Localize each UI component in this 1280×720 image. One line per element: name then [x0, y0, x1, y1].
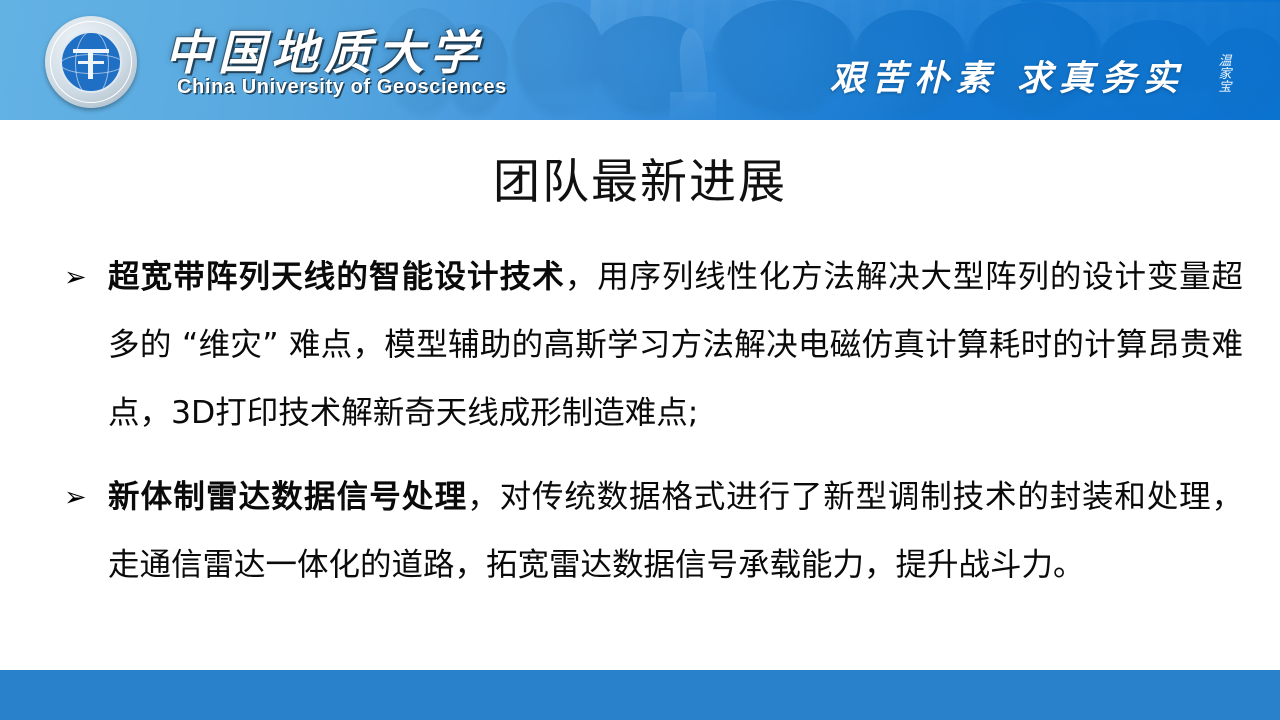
bullet-lead-term: 超宽带阵列天线的智能设计技术	[108, 259, 565, 295]
motto-signature: 温 家 宝	[1212, 55, 1238, 94]
seal-globe-icon	[60, 31, 122, 93]
slide-header-banner: 中国地质大学 China University of Geosciences 艰…	[0, 0, 1280, 120]
bullet-paragraph: 超宽带阵列天线的智能设计技术，用序列线性化方法解决大型阵列的设计变量超多的 “维…	[58, 243, 1243, 447]
bullet-paragraph: 新体制雷达数据信号处理，对传统数据格式进行了新型调制技术的封装和处理，走通信雷达…	[58, 463, 1243, 599]
university-name-en: China University of Geosciences	[177, 76, 507, 99]
university-motto: 艰苦朴素 求真务实	[830, 50, 1185, 101]
bullet-item: ➢ 超宽带阵列天线的智能设计技术，用序列线性化方法解决大型阵列的设计变量超多的 …	[58, 243, 1243, 447]
slide-footer-bar	[0, 670, 1280, 720]
presentation-slide: 中国地质大学 China University of Geosciences 艰…	[0, 0, 1280, 720]
seal-center-glyph	[71, 45, 111, 79]
slide-title: 团队最新进展	[0, 143, 1280, 212]
university-name-cn: 中国地质大学	[165, 14, 483, 83]
bullet-item: ➢ 新体制雷达数据信号处理，对传统数据格式进行了新型调制技术的封装和处理，走通信…	[58, 463, 1243, 599]
bullet-lead-term: 新体制雷达数据信号处理	[108, 479, 467, 515]
bullet-arrow-icon: ➢	[64, 463, 87, 531]
university-seal-icon	[45, 16, 137, 108]
bullet-arrow-icon: ➢	[64, 243, 87, 311]
slide-body: ➢ 超宽带阵列天线的智能设计技术，用序列线性化方法解决大型阵列的设计变量超多的 …	[58, 243, 1243, 615]
signature-char: 宝	[1212, 81, 1238, 94]
